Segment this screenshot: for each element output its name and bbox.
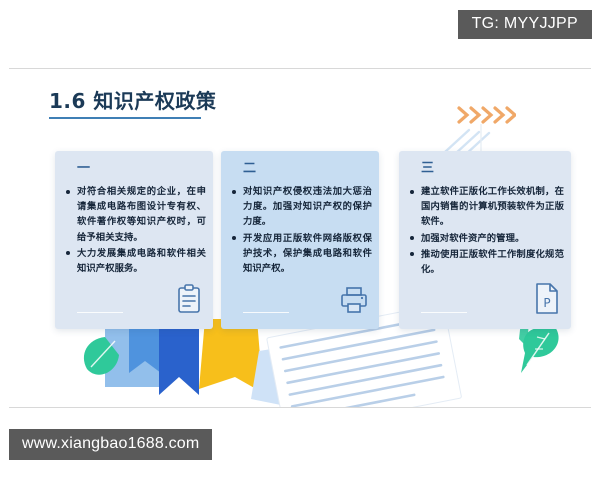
card-marker: 三 bbox=[421, 162, 434, 175]
list-item: 大力发展集成电路和软件相关知识产权服务。 bbox=[77, 246, 206, 276]
list-item: 开发应用正版软件网络版权保护技术，保护集成电路和软件知识产权。 bbox=[243, 231, 372, 277]
slide-canvas: 1.6 知识产权政策 bbox=[9, 68, 591, 408]
page-title-group: 1.6 知识产权政策 bbox=[49, 85, 216, 119]
printer-icon bbox=[340, 286, 368, 319]
policy-card-1[interactable]: 一 对符合相关规定的企业，在申请集成电路布图设计专有权、软件著作权等知识产权时，… bbox=[55, 151, 213, 329]
orange-chevrons-icon bbox=[456, 104, 516, 131]
list-item: 建立软件正版化工作长效机制，在国内销售的计算机预装软件为正版软件。 bbox=[421, 184, 564, 230]
list-item: 加强对软件资产的管理。 bbox=[421, 231, 564, 246]
list-item: 推动使用正版软件工作制度化规范化。 bbox=[421, 247, 564, 277]
svg-text:P: P bbox=[543, 296, 550, 310]
list-item: 对知识产权侵权违法加大惩治力度。加强对知识产权的保护力度。 bbox=[243, 184, 372, 230]
page-title: 1.6 知识产权政策 bbox=[49, 85, 216, 114]
document-p-icon: P bbox=[534, 283, 560, 319]
title-underline bbox=[49, 117, 201, 119]
card-bullet-list: 对符合相关规定的企业，在申请集成电路布图设计专有权、软件著作权等知识产权时，可给… bbox=[63, 184, 206, 277]
policy-card-3[interactable]: 三 建立软件正版化工作长效机制，在国内销售的计算机预装软件为正版软件。 加强对软… bbox=[399, 151, 571, 329]
card-bullet-list: 对知识产权侵权违法加大惩治力度。加强对知识产权的保护力度。 开发应用正版软件网络… bbox=[229, 184, 372, 277]
card-marker: 二 bbox=[243, 162, 256, 175]
card-bullet-list: 建立软件正版化工作长效机制，在国内销售的计算机预装软件为正版软件。 加强对软件资… bbox=[407, 184, 564, 278]
card-footer-rule bbox=[77, 312, 123, 314]
tg-badge: TG: MYYJJPP bbox=[458, 10, 592, 39]
policy-card-2[interactable]: 二 对知识产权侵权违法加大惩治力度。加强对知识产权的保护力度。 开发应用正版软件… bbox=[221, 151, 379, 329]
card-footer-rule bbox=[243, 312, 289, 314]
list-item: 对符合相关规定的企业，在申请集成电路布图设计专有权、软件著作权等知识产权时，可给… bbox=[77, 184, 206, 245]
clipboard-icon bbox=[176, 284, 202, 319]
card-footer-rule bbox=[421, 312, 467, 314]
card-marker: 一 bbox=[77, 162, 90, 175]
site-watermark: www.xiangbao1688.com bbox=[9, 429, 212, 460]
